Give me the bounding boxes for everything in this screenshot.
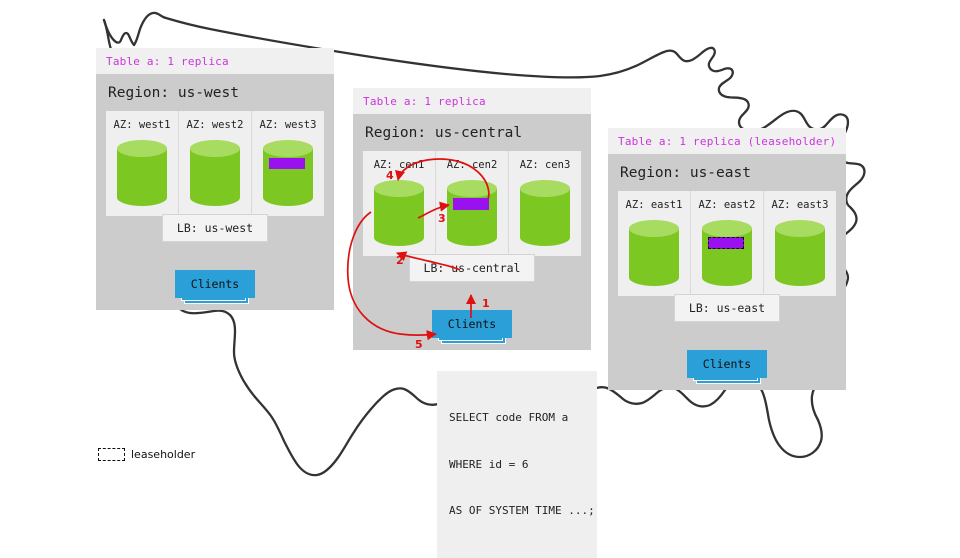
diagram-canvas: Table a: 1 replica Region: us-west AZ: w… — [0, 0, 960, 540]
arrow-5-cen1-to-client — [348, 212, 436, 335]
arrow-label-3: 3 — [438, 212, 446, 225]
arrow-label-2: 2 — [396, 254, 404, 267]
arrow-label-4: 4 — [386, 169, 394, 182]
arrow-2-lb-to-cen1 — [397, 253, 460, 270]
leaseholder-band-east2 — [708, 237, 744, 249]
range-band-west3 — [269, 158, 305, 169]
arrow-label-1: 1 — [482, 297, 490, 310]
range-band-cen2 — [453, 198, 489, 210]
arrow-label-5: 5 — [415, 338, 423, 351]
dashed-rect-icon — [98, 448, 125, 461]
legend-label: leaseholder — [131, 448, 195, 461]
legend: leaseholder — [98, 448, 195, 461]
